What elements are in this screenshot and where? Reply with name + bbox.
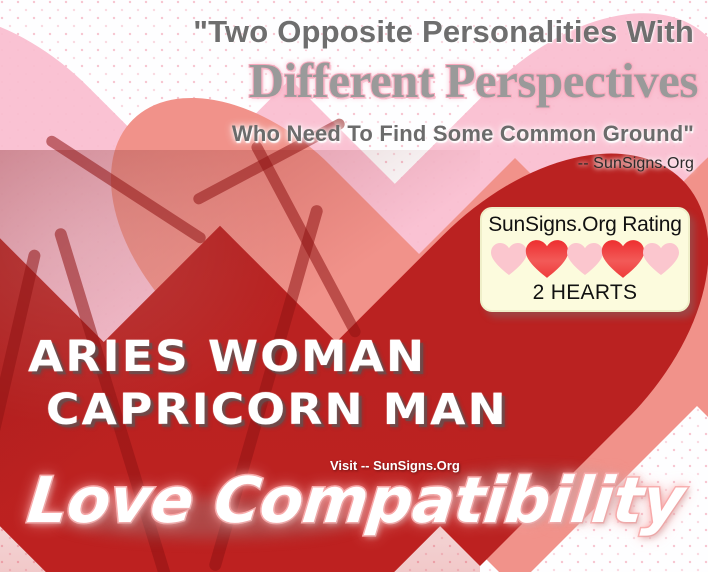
rating-heart-filled-icon [600,239,646,279]
rating-card: SunSigns.Org Rating 2 HEARTS [480,207,690,312]
rating-value-label: 2 HEARTS [533,281,638,305]
rating-card-title: SunSigns.Org Rating [488,213,681,237]
rating-heart-filled-icon [524,239,570,279]
headline-line-1: "Two Opposite Personalities With [0,14,694,50]
tagline-love-compatibility: Love Compatibility [24,464,687,537]
rating-heart-empty-icon [642,242,680,276]
attribution-text: -- SunSigns.Org [578,155,694,173]
rating-hearts-row [492,242,678,276]
headline-line-3: Who Need To Find Some Common Ground" [0,121,694,147]
rating-heart-empty-icon [566,242,604,276]
sign-name-line-1: ARIES WOMAN [28,332,426,382]
visit-text: Visit -- SunSigns.Org [330,458,460,473]
rating-heart-empty-icon [490,242,528,276]
compatibility-banner: "Two Opposite Personalities With Differe… [0,0,708,572]
heart-seam-icon [44,134,208,246]
headline-line-2: Different Perspectives [0,52,698,109]
sign-name-line-2: CAPRICORN MAN [46,385,508,435]
